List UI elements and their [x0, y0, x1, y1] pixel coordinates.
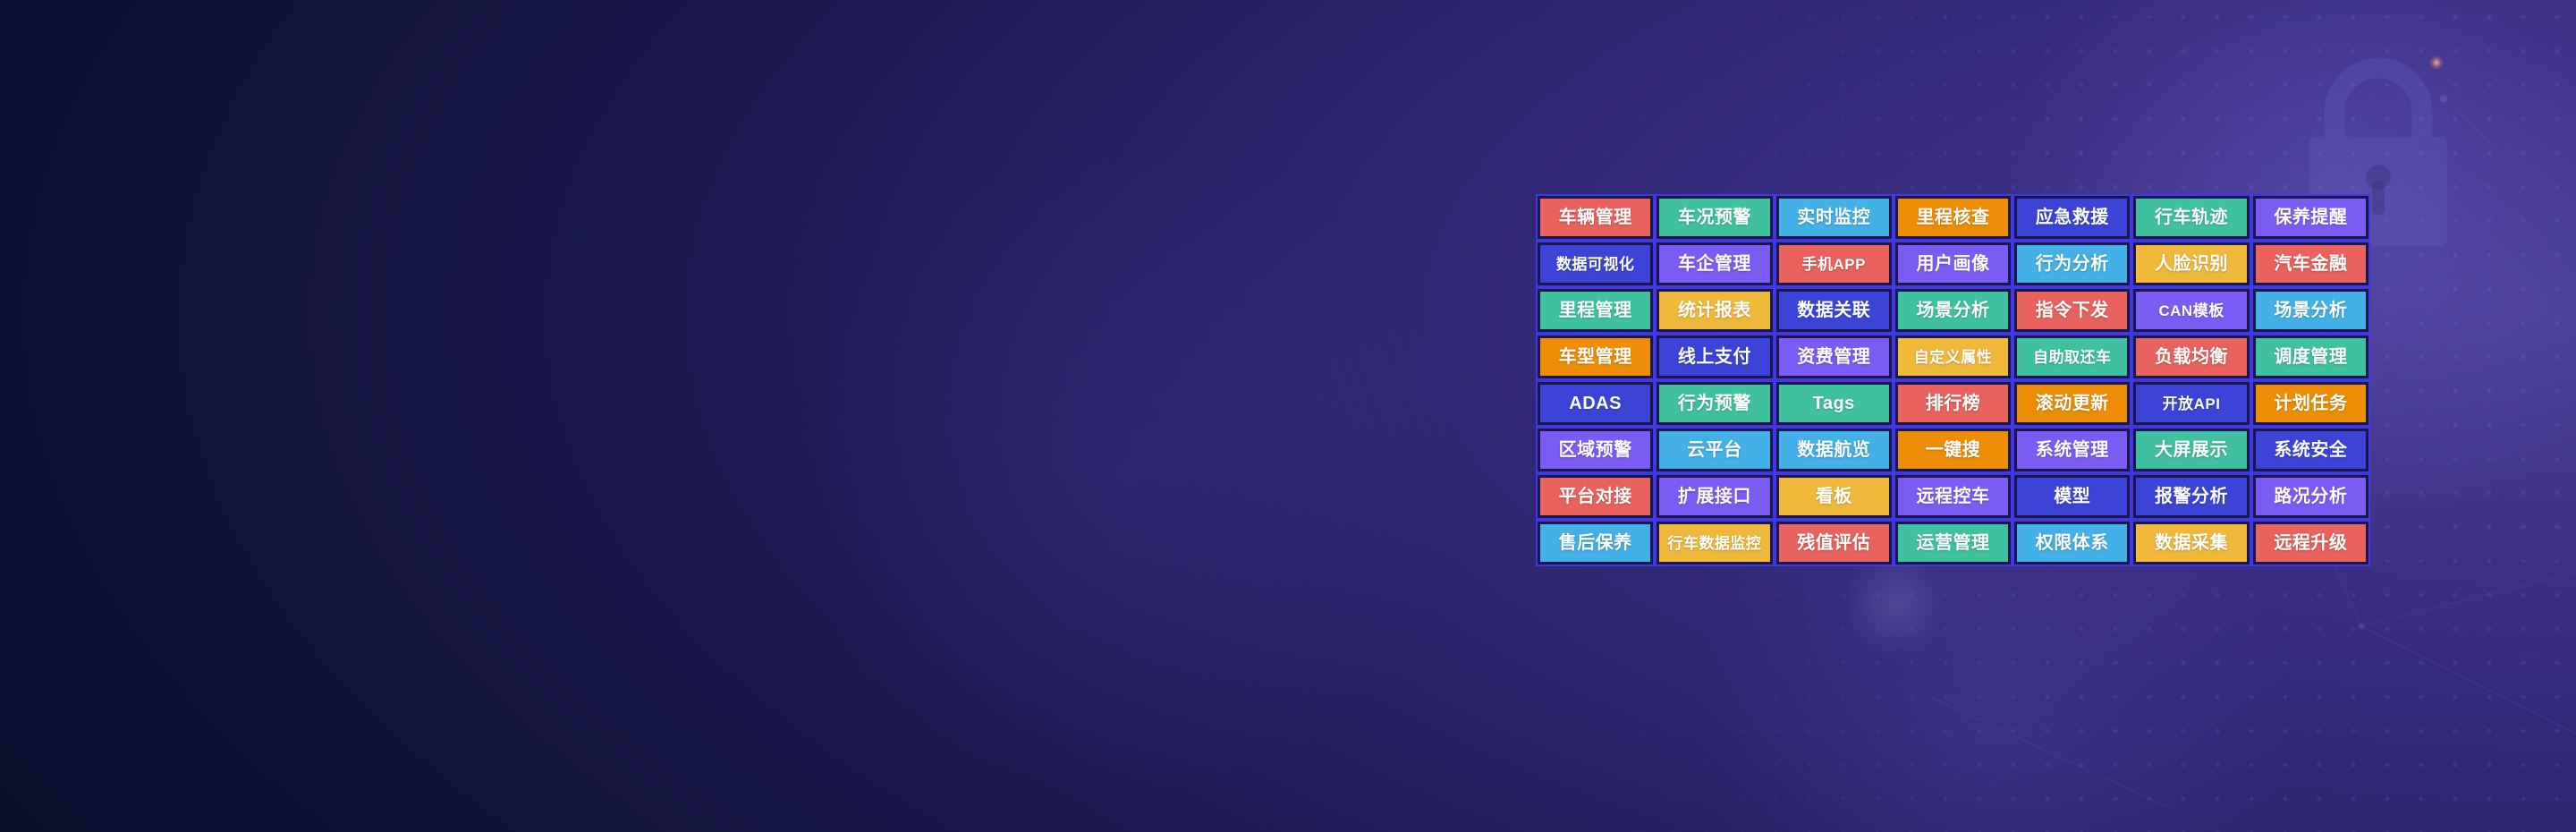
tag-row: 车辆管理车况预警实时监控里程核查应急救援行车轨迹保养提醒 — [1536, 194, 2370, 241]
tag-chip[interactable]: 调度管理 — [2256, 338, 2366, 376]
tag-cell[interactable]: 扩展接口 — [1655, 473, 1774, 520]
tag-cell[interactable]: 行为分析 — [2012, 241, 2131, 287]
tag-cell[interactable]: 指令下发 — [2012, 287, 2131, 334]
tag-chip[interactable]: 看板 — [1779, 478, 1889, 515]
tag-cell[interactable]: 残值评估 — [1775, 520, 1894, 566]
tag-cell[interactable]: CAN模板 — [2131, 287, 2250, 334]
tag-chip[interactable]: 扩展接口 — [1659, 478, 1769, 515]
tag-chip[interactable]: 行为分析 — [2017, 245, 2127, 283]
tag-chip[interactable]: ADAS — [1540, 385, 1650, 422]
tag-cell[interactable]: 滚动更新 — [2012, 380, 2131, 427]
tag-chip[interactable]: 系统管理 — [2017, 431, 2127, 469]
tag-row: 里程管理统计报表数据关联场景分析指令下发CAN模板场景分析 — [1536, 287, 2370, 334]
tag-cell[interactable]: 计划任务 — [2251, 380, 2370, 427]
tag-cell[interactable]: 自定义属性 — [1894, 334, 2012, 380]
tag-chip[interactable]: 人脸识别 — [2136, 245, 2246, 283]
tag-chip[interactable]: 开放API — [2136, 385, 2246, 422]
tag-chip[interactable]: 区域预警 — [1540, 431, 1650, 469]
tag-cell[interactable]: 数据关联 — [1775, 287, 1894, 334]
tag-row: 数据可视化车企管理手机APP用户画像行为分析人脸识别汽车金融 — [1536, 241, 2370, 287]
tag-cell[interactable]: 远程控车 — [1894, 473, 2012, 520]
tag-cell[interactable]: 场景分析 — [2251, 287, 2370, 334]
tag-cell[interactable]: 数据可视化 — [1536, 241, 1655, 287]
screen: 车辆管理车况预警实时监控里程核查应急救援行车轨迹保养提醒数据可视化车企管理手机A… — [0, 0, 2576, 832]
tag-cell[interactable]: 统计报表 — [1655, 287, 1774, 334]
tag-cell[interactable]: 资费管理 — [1775, 334, 1894, 380]
tag-cell[interactable]: 售后保养 — [1536, 520, 1655, 566]
tag-chip[interactable]: 保养提醒 — [2256, 199, 2366, 236]
tag-chip[interactable]: 计划任务 — [2256, 385, 2366, 422]
tag-cell[interactable]: 报警分析 — [2131, 473, 2250, 520]
tag-chip[interactable]: 汽车金融 — [2256, 245, 2366, 283]
tag-cell[interactable]: 车型管理 — [1536, 334, 1655, 380]
tag-cell[interactable]: 运营管理 — [1894, 520, 2012, 566]
tag-cell[interactable]: 系统安全 — [2251, 427, 2370, 473]
tag-row: 区域预警云平台数据航览一键搜系统管理大屏展示系统安全 — [1536, 427, 2370, 473]
tag-chip[interactable]: 自定义属性 — [1898, 338, 2008, 376]
tag-cell[interactable]: 路况分析 — [2251, 473, 2370, 520]
tag-cell[interactable]: 里程管理 — [1536, 287, 1655, 334]
tag-cell[interactable]: 云平台 — [1655, 427, 1774, 473]
tag-cell[interactable]: 保养提醒 — [2251, 194, 2370, 241]
tag-chip[interactable]: 负载均衡 — [2136, 338, 2246, 376]
tag-chip[interactable]: 权限体系 — [2017, 524, 2127, 562]
tag-chip[interactable]: 滚动更新 — [2017, 385, 2127, 422]
tag-cell[interactable]: 一键搜 — [1894, 427, 2012, 473]
tag-cell[interactable]: 线上支付 — [1655, 334, 1774, 380]
tag-chip[interactable]: 资费管理 — [1779, 338, 1889, 376]
tag-chip[interactable]: 模型 — [2017, 478, 2127, 515]
tag-chip[interactable]: 车辆管理 — [1540, 199, 1650, 236]
tag-chip[interactable]: 平台对接 — [1540, 478, 1650, 515]
tag-cell[interactable]: 行车数据监控 — [1655, 520, 1774, 566]
tag-cell[interactable]: 数据采集 — [2131, 520, 2250, 566]
tag-chip[interactable]: 行车数据监控 — [1659, 524, 1769, 562]
tag-chip[interactable]: 里程核查 — [1898, 199, 2008, 236]
tag-chip[interactable]: 一键搜 — [1898, 431, 2008, 469]
tag-chip[interactable]: 远程控车 — [1898, 478, 2008, 515]
tag-chip[interactable]: 线上支付 — [1659, 338, 1769, 376]
tag-cell[interactable]: 车企管理 — [1655, 241, 1774, 287]
tag-chip[interactable]: 行为预警 — [1659, 385, 1769, 422]
tag-chip[interactable]: 售后保养 — [1540, 524, 1650, 562]
tag-cell[interactable]: ADAS — [1536, 380, 1655, 427]
tag-chip[interactable]: 车况预警 — [1659, 199, 1769, 236]
tag-cell[interactable]: 应急救援 — [2012, 194, 2131, 241]
tag-cell[interactable]: 模型 — [2012, 473, 2131, 520]
tag-chip[interactable]: 云平台 — [1659, 431, 1769, 469]
tag-cell[interactable]: 系统管理 — [2012, 427, 2131, 473]
tag-cell[interactable]: 排行榜 — [1894, 380, 2012, 427]
tag-row: 售后保养行车数据监控残值评估运营管理权限体系数据采集远程升级 — [1536, 520, 2370, 566]
tag-row: 平台对接扩展接口看板远程控车模型报警分析路况分析 — [1536, 473, 2370, 520]
tag-cell[interactable]: 人脸识别 — [2131, 241, 2250, 287]
tag-chip[interactable]: 场景分析 — [2256, 292, 2366, 329]
tag-chip[interactable]: 数据航览 — [1779, 431, 1889, 469]
tag-cell[interactable]: 区域预警 — [1536, 427, 1655, 473]
tag-cell[interactable]: 平台对接 — [1536, 473, 1655, 520]
tag-chip[interactable]: 排行榜 — [1898, 385, 2008, 422]
tag-chip[interactable]: CAN模板 — [2136, 292, 2246, 329]
tag-chip[interactable]: 数据可视化 — [1540, 245, 1650, 283]
tag-cell[interactable]: 行车轨迹 — [2131, 194, 2250, 241]
tag-cell[interactable]: 车况预警 — [1655, 194, 1774, 241]
tag-cell[interactable]: 数据航览 — [1775, 427, 1894, 473]
tag-chip[interactable]: 行车轨迹 — [2136, 199, 2246, 236]
tag-cell[interactable]: 汽车金融 — [2251, 241, 2370, 287]
tag-cell[interactable]: 权限体系 — [2012, 520, 2131, 566]
tag-cell[interactable]: 负载均衡 — [2131, 334, 2250, 380]
tag-chip[interactable]: 车型管理 — [1540, 338, 1650, 376]
tag-chip[interactable]: 数据采集 — [2136, 524, 2246, 562]
tag-chip[interactable]: 残值评估 — [1779, 524, 1889, 562]
tag-cell[interactable]: 大屏展示 — [2131, 427, 2250, 473]
capability-tag-grid: 车辆管理车况预警实时监控里程核查应急救援行车轨迹保养提醒数据可视化车企管理手机A… — [1536, 194, 2370, 566]
tag-cell[interactable]: Tags — [1775, 380, 1894, 427]
tag-chip[interactable]: 里程管理 — [1540, 292, 1650, 329]
tag-chip[interactable]: 报警分析 — [2136, 478, 2246, 515]
tag-chip[interactable]: 运营管理 — [1898, 524, 2008, 562]
tag-cell[interactable]: 实时监控 — [1775, 194, 1894, 241]
tag-cell[interactable]: 场景分析 — [1894, 287, 2012, 334]
tag-cell[interactable]: 远程升级 — [2251, 520, 2370, 566]
tag-chip[interactable]: 系统安全 — [2256, 431, 2366, 469]
tag-chip[interactable]: 实时监控 — [1779, 199, 1889, 236]
tag-chip[interactable]: 场景分析 — [1898, 292, 2008, 329]
tag-row: ADAS行为预警Tags排行榜滚动更新开放API计划任务 — [1536, 380, 2370, 427]
tag-chip[interactable]: 指令下发 — [2017, 292, 2127, 329]
tag-chip[interactable]: 远程升级 — [2256, 524, 2366, 562]
tag-chip[interactable]: 路况分析 — [2256, 478, 2366, 515]
tag-cell[interactable]: 调度管理 — [2251, 334, 2370, 380]
tag-row: 车型管理线上支付资费管理自定义属性自助取还车负载均衡调度管理 — [1536, 334, 2370, 380]
tag-cell[interactable]: 车辆管理 — [1536, 194, 1655, 241]
tag-cell[interactable]: 看板 — [1775, 473, 1894, 520]
tag-chip[interactable]: 车企管理 — [1659, 245, 1769, 283]
tag-chip[interactable]: 大屏展示 — [2136, 431, 2246, 469]
tag-cell[interactable]: 手机APP — [1775, 241, 1894, 287]
tag-chip[interactable]: 用户画像 — [1898, 245, 2008, 283]
tag-chip[interactable]: 自助取还车 — [2017, 338, 2127, 376]
tag-chip[interactable]: 数据关联 — [1779, 292, 1889, 329]
tag-chip[interactable]: 统计报表 — [1659, 292, 1769, 329]
tag-cell[interactable]: 自助取还车 — [2012, 334, 2131, 380]
tag-cell[interactable]: 行为预警 — [1655, 380, 1774, 427]
tag-cell[interactable]: 里程核查 — [1894, 194, 2012, 241]
tag-cell[interactable]: 用户画像 — [1894, 241, 2012, 287]
tag-chip[interactable]: 手机APP — [1779, 245, 1889, 283]
tag-chip[interactable]: 应急救援 — [2017, 199, 2127, 236]
tag-cell[interactable]: 开放API — [2131, 380, 2250, 427]
tag-chip[interactable]: Tags — [1779, 385, 1889, 422]
